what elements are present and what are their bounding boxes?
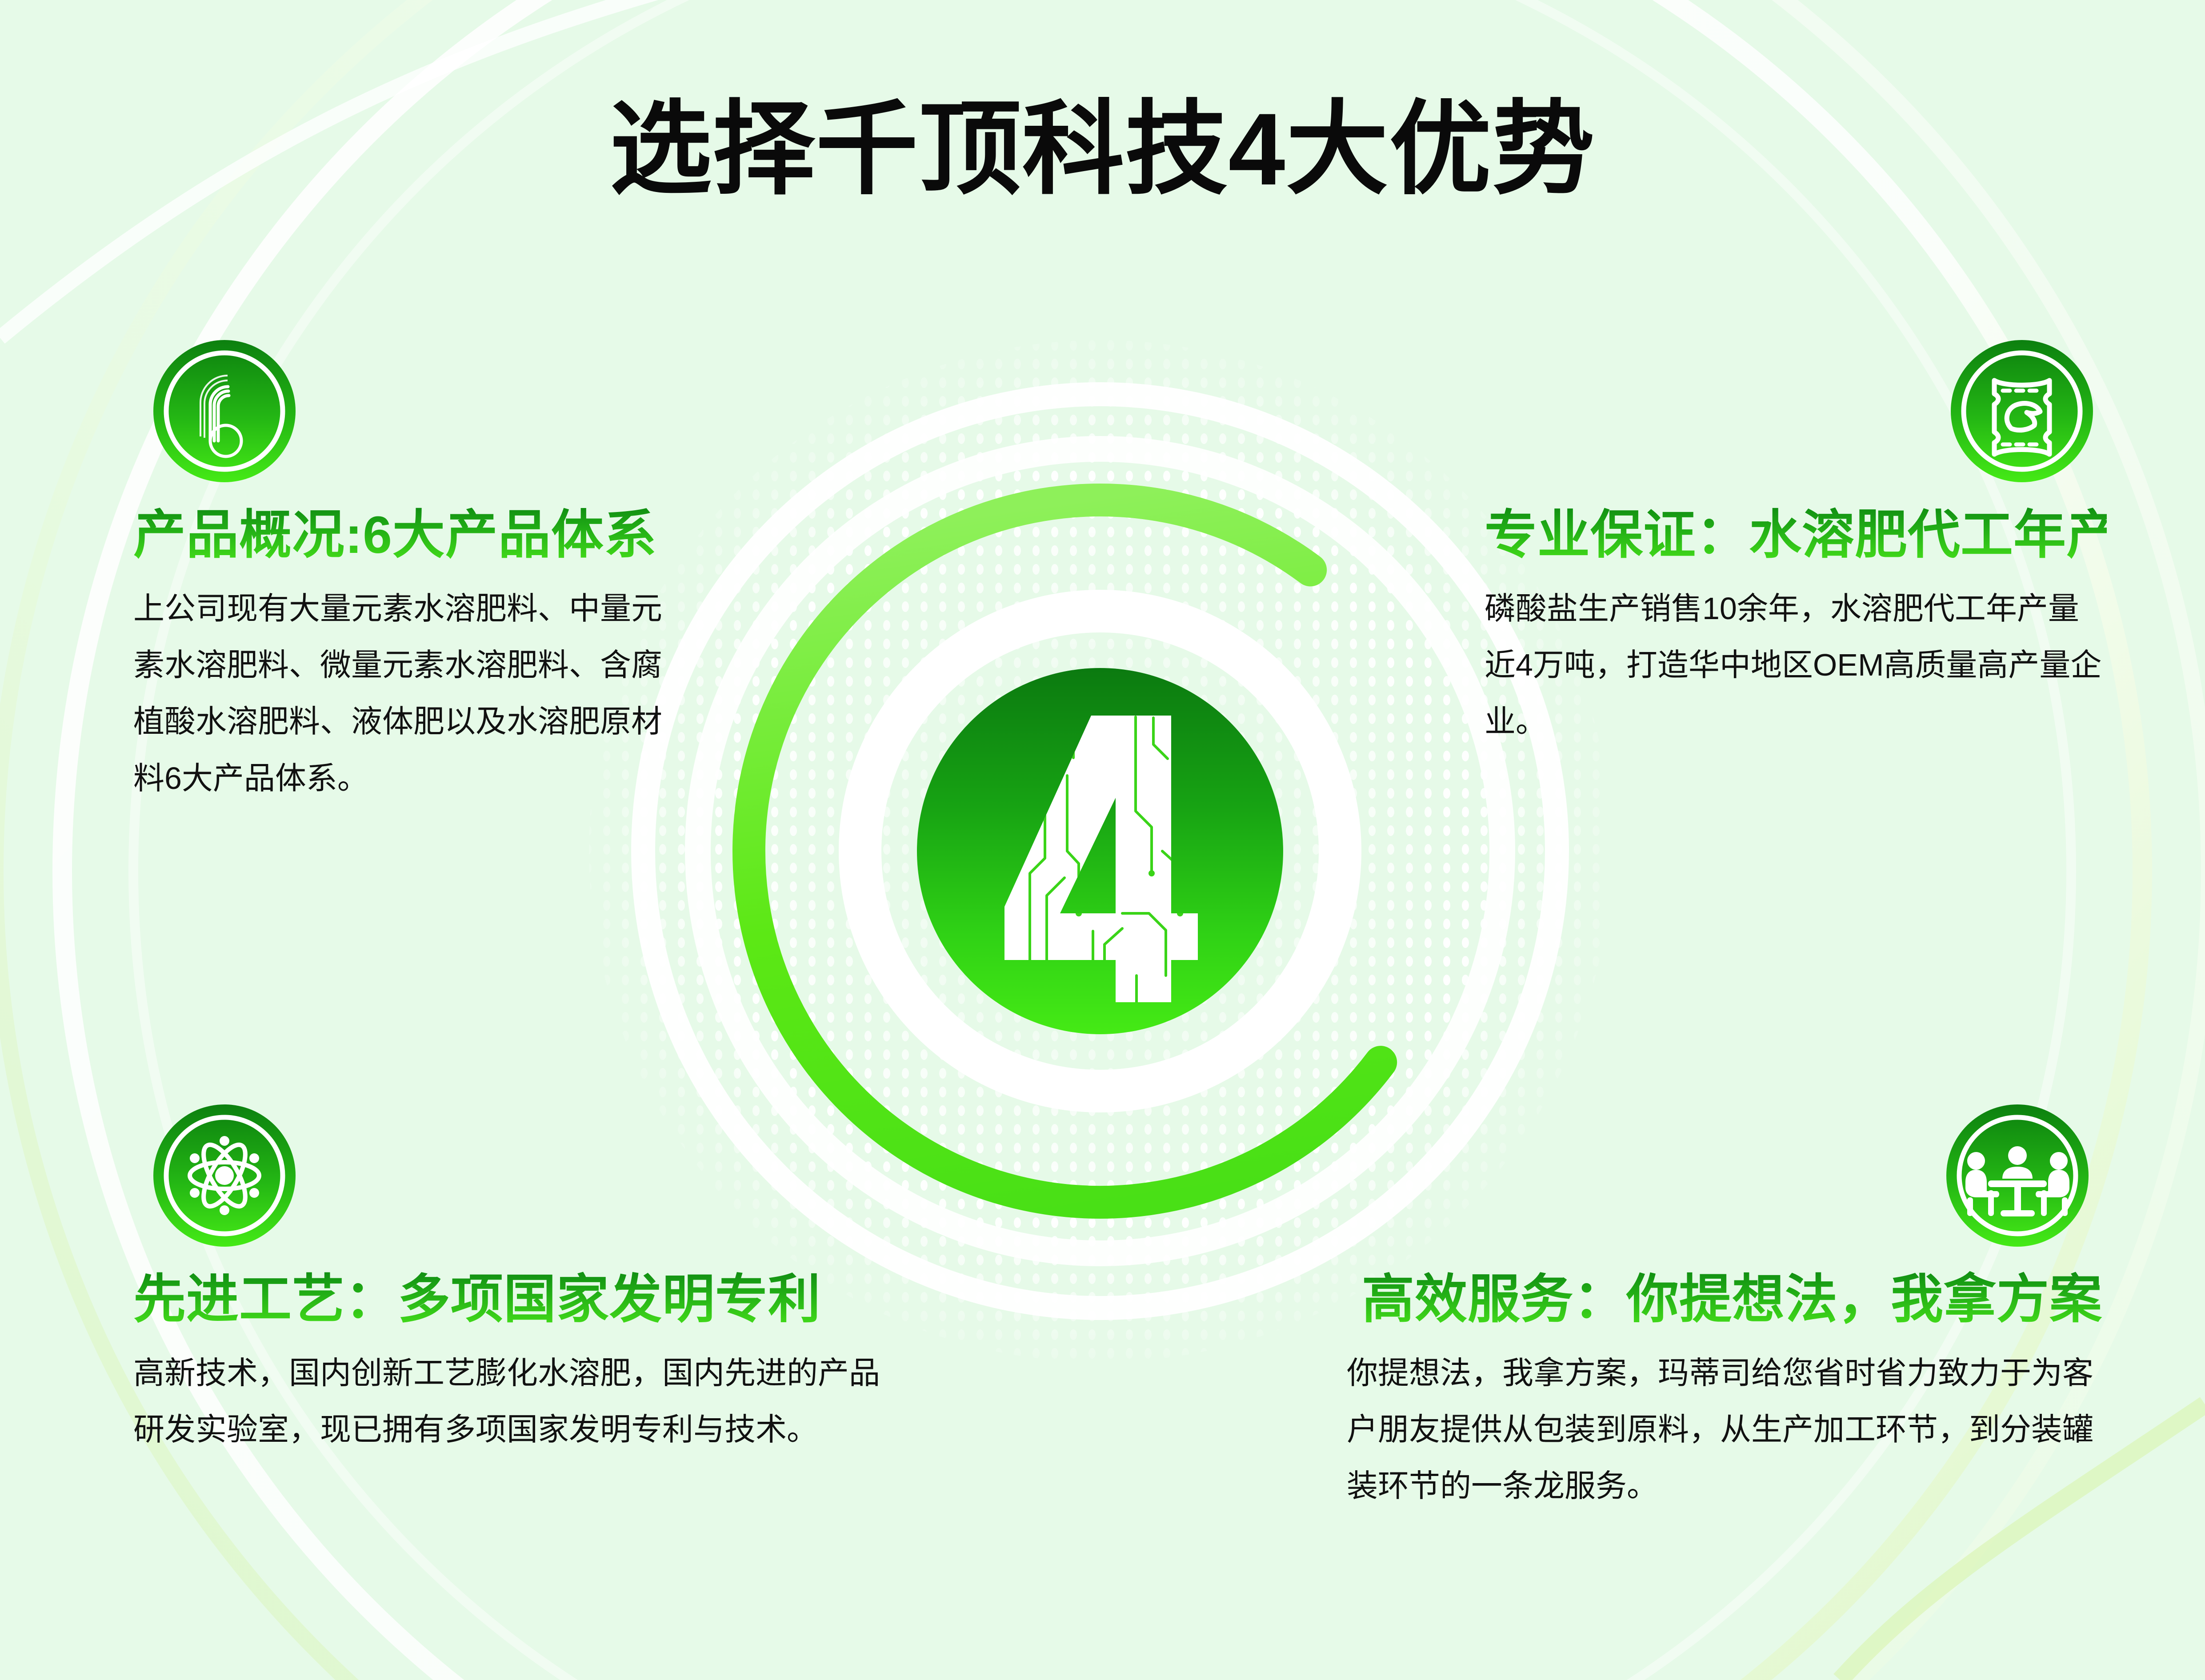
meeting-team-icon <box>1944 1102 2091 1249</box>
advantage-card-top-right: 专业保证：水溶肥代工年产量近4万吨 磷酸盐生产销售10余年，水溶肥代工年产量近4… <box>1485 338 2107 750</box>
card-heading: 产品概况:6大产品体系 <box>133 504 720 567</box>
card-heading: 高效服务：你提想法，我拿方案 <box>1347 1268 2102 1332</box>
card-body: 上公司现有大量元素水溶肥料、中量元素水溶肥料、微量元素水溶肥料、含腐植酸水溶肥料… <box>133 580 680 807</box>
infographic-canvas: 选择千顶科技4大优势 <box>0 0 2205 1680</box>
advantage-card-bottom-left: 先进工艺：多项国家发明专利 高新技术，国内创新工艺膨化水溶肥，国内先进的产品研发… <box>133 1102 889 1458</box>
center-number-badge <box>913 664 1287 1038</box>
advantage-card-bottom-right: 高效服务：你提想法，我拿方案 你提想法，我拿方案，玛蒂司给您省时省力致力于为客户… <box>1347 1102 2102 1515</box>
advantage-card-top-left: 产品概况:6大产品体系 上公司现有大量元素水溶肥料、中量元素水溶肥料、微量元素水… <box>133 338 720 807</box>
card-body: 磷酸盐生产销售10余年，水溶肥代工年产量近4万吨，打造华中地区OEM高质量高产量… <box>1485 580 2107 750</box>
card-heading: 先进工艺：多项国家发明专利 <box>133 1268 889 1332</box>
circuit-four-badge-icon <box>913 664 1287 1038</box>
card-body: 高新技术，国内创新工艺膨化水溶肥，国内先进的产品研发实验室，现已拥有多项国家发明… <box>133 1345 880 1458</box>
page-title: 选择千顶科技4大优势 <box>0 96 2205 203</box>
card-body: 你提想法，我拿方案，玛蒂司给您省时省力致力于为客户朋友提供从包装到原料，从生产加… <box>1347 1345 2102 1515</box>
fertilizer-bag-icon <box>1949 338 2095 484</box>
number-six-circle-icon <box>151 338 298 484</box>
card-heading: 专业保证：水溶肥代工年产量近4万吨 <box>1485 504 2107 567</box>
atom-icon <box>151 1102 298 1249</box>
